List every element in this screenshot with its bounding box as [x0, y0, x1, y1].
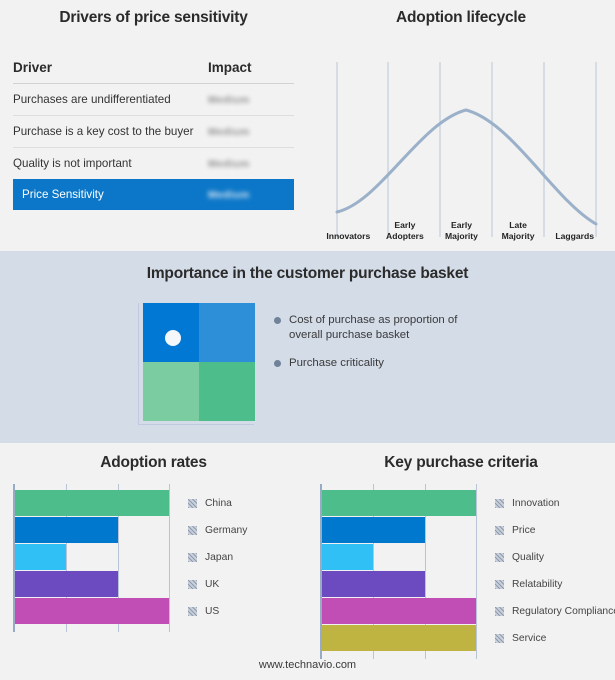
bar-row [322, 544, 486, 570]
position-marker-dot [165, 330, 181, 346]
driver-cell: Purchase is a key cost to the buyer [13, 116, 204, 148]
legend-row[interactable]: Regulatory Compliance [495, 598, 615, 625]
lifecycle-stage-late-majority: Late Majority [490, 212, 547, 242]
legend-swatch-icon [188, 607, 197, 616]
driver-cell: Purchases are undifferentiated [13, 84, 204, 116]
legend-row[interactable]: Price [495, 517, 615, 544]
basket-legend-label: Purchase criticality [289, 356, 384, 371]
bar-row [15, 544, 179, 570]
bar-us[interactable] [15, 598, 169, 624]
lifecycle-stage-early-adopters: Early Adopters [377, 212, 434, 242]
bar-germany[interactable] [15, 517, 118, 543]
adoption-rates-plot-area [13, 484, 179, 632]
legend-label: Germany [205, 525, 247, 536]
stage-line-2: Innovators [320, 231, 377, 242]
legend-label: Relatability [512, 579, 562, 590]
bar-row [15, 598, 179, 624]
basket-panel-title: Importance in the customer purchase bask… [0, 265, 615, 283]
impact-cell: Medium [204, 84, 294, 116]
impact-value-redacted: Medium [208, 158, 249, 170]
bar-row [322, 598, 486, 624]
legend-swatch-icon [495, 607, 504, 616]
list-item: Cost of purchase as proportion of overal… [274, 313, 584, 342]
bar-price[interactable] [322, 517, 425, 543]
lifecycle-chart [320, 52, 603, 237]
bar-china[interactable] [15, 490, 169, 516]
purchase-criteria-legend: InnovationPriceQualityRelatabilityRegula… [495, 484, 615, 652]
legend-label: China [205, 498, 232, 509]
basket-matrix-frame [138, 303, 254, 425]
drivers-panel: Drivers of price sensitivity Driver Impa… [0, 0, 307, 251]
legend-label: Service [512, 633, 546, 644]
site-watermark: www.technavio.com [0, 659, 615, 671]
legend-swatch-icon [188, 526, 197, 535]
bar-row [322, 625, 486, 651]
purchase-criteria-title: Key purchase criteria [307, 454, 615, 472]
lifecycle-stage-laggards: Laggards [546, 212, 603, 242]
bar-service[interactable] [322, 625, 476, 651]
table-row[interactable]: Purchase is a key cost to the buyer Medi… [13, 116, 294, 148]
purchase-criteria-chart: InnovationPriceQualityRelatabilityRegula… [320, 484, 603, 659]
legend-swatch-icon [495, 526, 504, 535]
purchase-criteria-panel: Key purchase criteria InnovationPriceQua… [307, 443, 615, 680]
driver-cell: Quality is not important [13, 148, 204, 180]
legend-label: Regulatory Compliance [512, 606, 615, 617]
bar-regulatory-compliance[interactable] [322, 598, 476, 624]
legend-swatch-icon [188, 499, 197, 508]
drivers-table-wrapper: Driver Impact Purchases are undifferenti… [13, 58, 294, 210]
drivers-panel-title: Drivers of price sensitivity [0, 9, 307, 27]
table-row[interactable]: Quality is not important Medium [13, 148, 294, 180]
basket-panel-title-wrapper: Importance in the customer purchase bask… [0, 265, 615, 283]
legend-label: UK [205, 579, 219, 590]
bar-row [15, 517, 179, 543]
stage-line-1: Early [377, 220, 434, 231]
bar-japan[interactable] [15, 544, 66, 570]
basket-quadrant-matrix [143, 303, 255, 421]
legend-label: Innovation [512, 498, 560, 509]
legend-swatch-icon [495, 580, 504, 589]
table-row-highlighted[interactable]: Price Sensitivity Medium [13, 179, 294, 210]
purchase-criteria-plot-area [320, 484, 486, 659]
stage-line-2: Adopters [377, 231, 434, 242]
legend-swatch-icon [495, 499, 504, 508]
lifecycle-stage-innovators: Innovators [320, 212, 377, 242]
column-header-impact: Impact [204, 58, 294, 84]
impact-cell: Medium [204, 179, 294, 210]
driver-cell: Price Sensitivity [13, 179, 204, 210]
stage-line-1: Late [490, 220, 547, 231]
bar-relatability[interactable] [322, 571, 425, 597]
stage-line-2: Majority [433, 231, 490, 242]
lifecycle-stage-early-majority: Early Majority [433, 212, 490, 242]
impact-value-redacted: Medium [208, 94, 249, 106]
legend-row[interactable]: Service [495, 625, 615, 652]
legend-row[interactable]: Innovation [495, 490, 615, 517]
bar-innovation[interactable] [322, 490, 476, 516]
quadrant-bottom-right[interactable] [199, 362, 255, 421]
drivers-table-header-row: Driver Impact [13, 58, 294, 84]
table-row[interactable]: Purchases are undifferentiated Medium [13, 84, 294, 116]
basket-legend: Cost of purchase as proportion of overal… [274, 313, 584, 385]
bullet-dot-icon [274, 317, 281, 324]
stage-line-2: Majority [490, 231, 547, 242]
infographic-root: Drivers of price sensitivity Driver Impa… [0, 0, 615, 680]
stage-line-2: Laggards [546, 231, 603, 242]
lifecycle-panel: Adoption lifecycle Innovators Early Adop… [307, 0, 615, 251]
adoption-rates-panel: Adoption rates ChinaGermanyJapanUKUS [0, 443, 307, 680]
bar-uk[interactable] [15, 571, 118, 597]
lifecycle-bell-curve-svg [320, 52, 603, 237]
lifecycle-curve [337, 110, 596, 224]
legend-label: US [205, 606, 219, 617]
lifecycle-panel-title: Adoption lifecycle [307, 9, 615, 27]
legend-label: Quality [512, 552, 544, 563]
legend-swatch-icon [188, 580, 197, 589]
impact-cell: Medium [204, 116, 294, 148]
legend-swatch-icon [188, 553, 197, 562]
impact-cell: Medium [204, 148, 294, 180]
bar-quality[interactable] [322, 544, 373, 570]
legend-row[interactable]: Relatability [495, 571, 615, 598]
column-header-driver: Driver [13, 58, 204, 84]
stage-line-1: Early [433, 220, 490, 231]
bullet-dot-icon [274, 360, 281, 367]
legend-swatch-icon [495, 634, 504, 643]
list-item: Purchase criticality [274, 356, 584, 371]
legend-label: Japan [205, 552, 233, 563]
bar-row [322, 517, 486, 543]
lifecycle-stage-labels: Innovators Early Adopters Early Majority… [320, 212, 603, 242]
bar-row [15, 490, 179, 516]
impact-value-redacted: Medium [208, 189, 249, 201]
drivers-table-body: Purchases are undifferentiated Medium Pu… [13, 84, 294, 211]
bar-row [322, 571, 486, 597]
adoption-rates-title: Adoption rates [0, 454, 307, 472]
impact-value-redacted: Medium [208, 126, 249, 138]
basket-legend-label: Cost of purchase as proportion of overal… [289, 313, 489, 342]
quadrant-bottom-left[interactable] [143, 362, 199, 421]
drivers-table: Driver Impact Purchases are undifferenti… [13, 58, 294, 210]
bar-row [15, 571, 179, 597]
legend-label: Price [512, 525, 535, 536]
legend-swatch-icon [495, 553, 504, 562]
adoption-rates-chart: ChinaGermanyJapanUKUS [13, 484, 296, 632]
bar-row [322, 490, 486, 516]
legend-row[interactable]: Quality [495, 544, 615, 571]
quadrant-top-right[interactable] [199, 303, 255, 362]
